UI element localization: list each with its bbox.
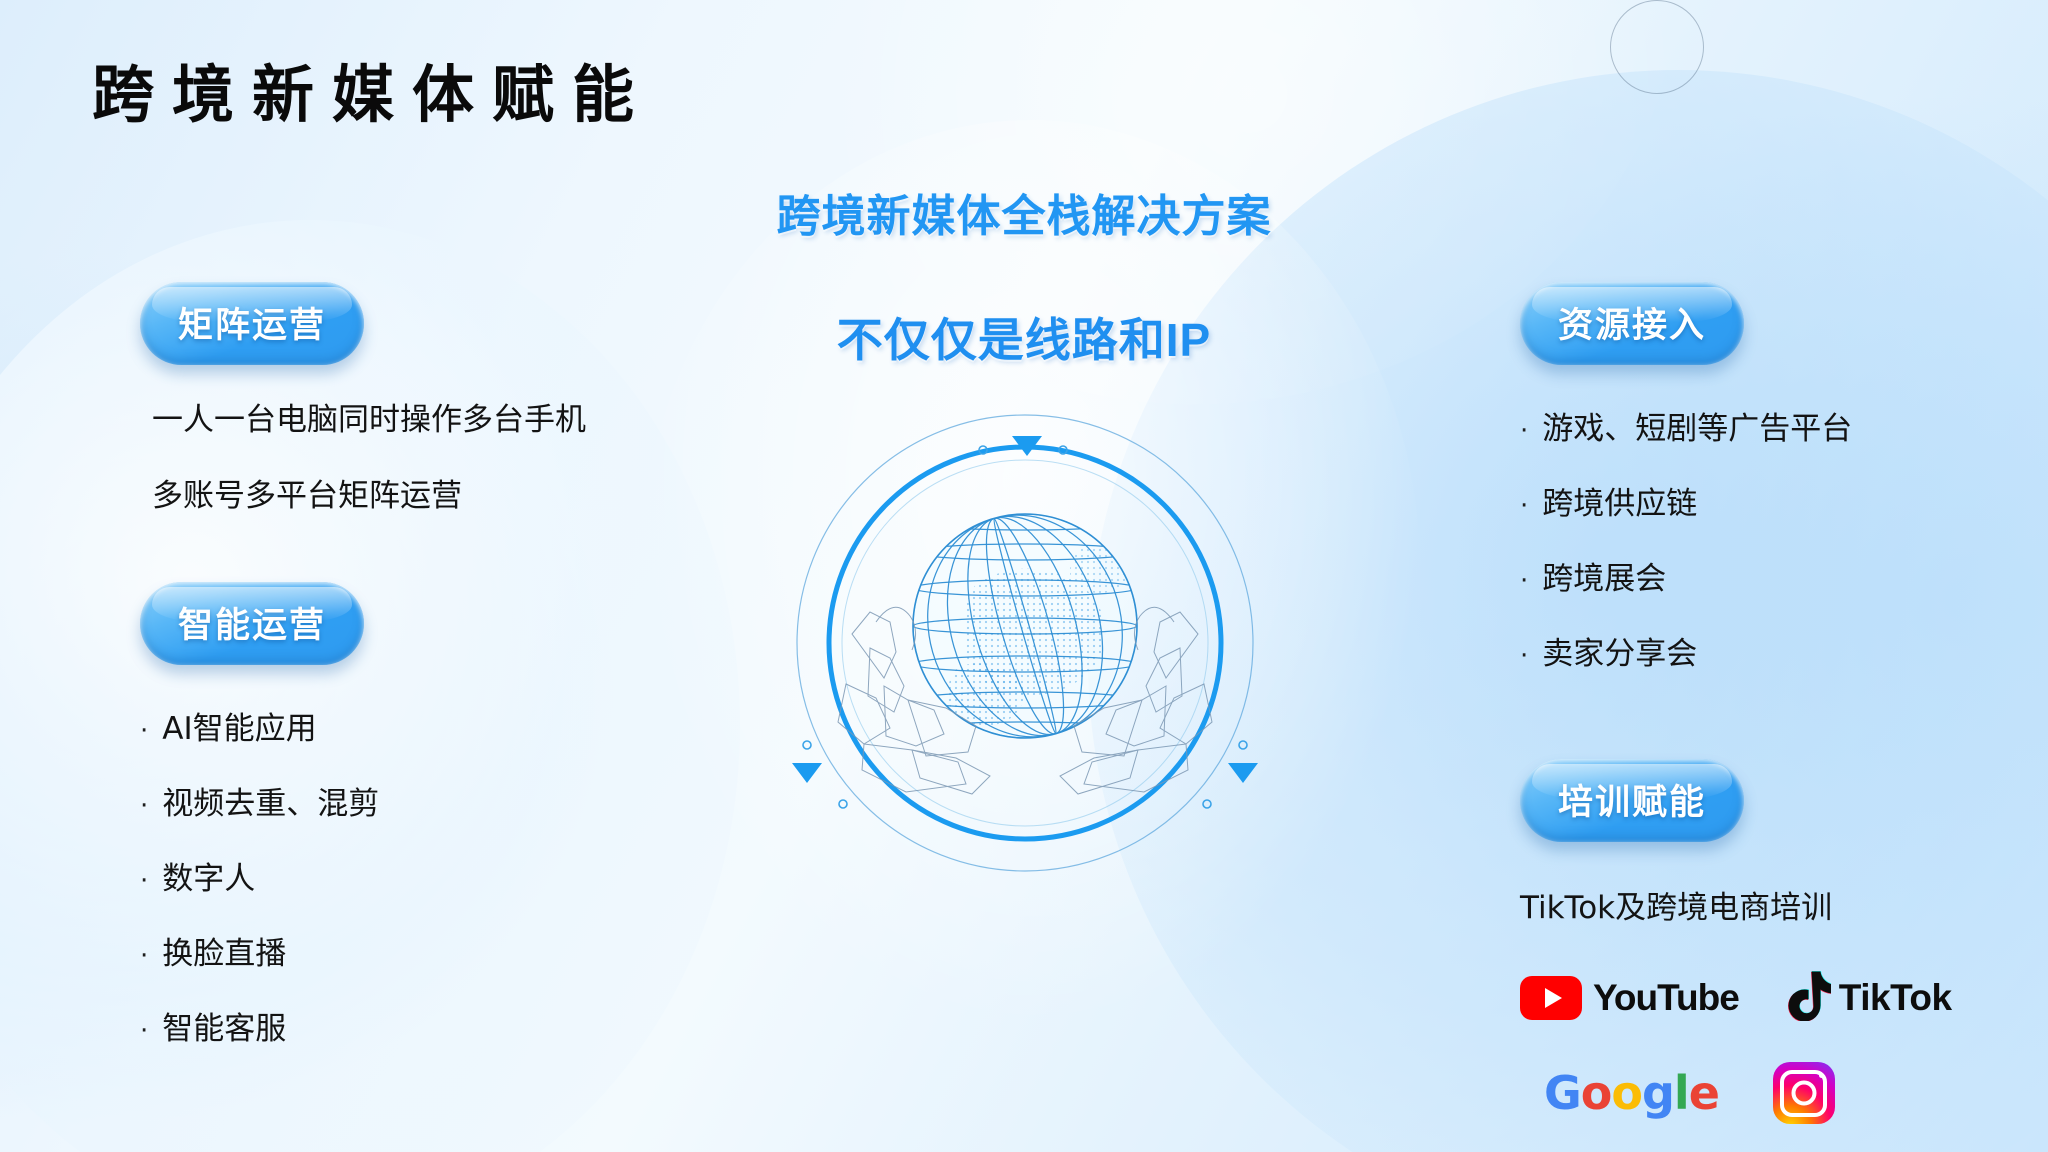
bullet-dot-icon: · xyxy=(1520,493,1528,519)
google-letter-o1: o xyxy=(1581,1070,1612,1116)
list-item-label: 跨境供应链 xyxy=(1542,478,1697,523)
google-letter-o2: o xyxy=(1611,1070,1642,1116)
bullet-dot-icon: · xyxy=(1520,568,1528,594)
list-item: · 换脸直播 xyxy=(140,928,700,973)
list-item-label: AI智能应用 xyxy=(162,703,316,748)
center-heading-secondary: 不仅仅是线路和IP xyxy=(624,304,1424,370)
bullet-dot-icon: · xyxy=(140,718,148,744)
resource-access-list: · 游戏、短剧等广告平台 · 跨境供应链 · 跨境展会 · 卖家分享会 xyxy=(1520,403,1990,673)
left-column: 矩阵运营 一人一台电脑同时操作多台手机 多账号多平台矩阵运营 智能运营 · AI… xyxy=(140,282,700,1078)
training-subtitle: TikTok及跨境电商培训 xyxy=(1520,882,1990,927)
list-item-label: 换脸直播 xyxy=(162,928,286,973)
list-item-label: 智能客服 xyxy=(162,1003,286,1048)
decorative-ring-icon xyxy=(1610,0,1704,94)
logo-row-primary: YouTube TikTok xyxy=(1520,969,1990,1026)
youtube-logo: YouTube xyxy=(1520,976,1739,1020)
pill-training-empowerment[interactable]: 培训赋能 xyxy=(1520,759,1744,842)
center-headings: 跨境新媒体全栈解决方案 不仅仅是线路和IP xyxy=(624,180,1424,370)
list-item-label: 卖家分享会 xyxy=(1542,628,1697,673)
pill-resource-access[interactable]: 资源接入 xyxy=(1520,282,1744,365)
google-letter-e: e xyxy=(1689,1070,1719,1116)
slide-canvas: 跨境新媒体赋能 跨境新媒体全栈解决方案 不仅仅是线路和IP xyxy=(0,0,2048,1152)
bullet-dot-icon: · xyxy=(140,793,148,819)
smart-operations-list: · AI智能应用 · 视频去重、混剪 · 数字人 · 换脸直播 · 智能客服 xyxy=(140,703,700,1048)
bullet-dot-icon: · xyxy=(140,1018,148,1044)
list-item-label: 游戏、短剧等广告平台 xyxy=(1542,403,1852,448)
google-letter-g1: G xyxy=(1544,1070,1581,1116)
list-item: · 视频去重、混剪 xyxy=(140,778,700,823)
tiktok-logo: TikTok xyxy=(1785,969,1952,1026)
list-item: · 数字人 xyxy=(140,853,700,898)
logo-row-secondary: Google xyxy=(1520,1062,1990,1124)
pill-smart-operations[interactable]: 智能运营 xyxy=(140,582,364,665)
page-title: 跨境新媒体赋能 xyxy=(92,44,652,134)
wireframe-globe-icon xyxy=(780,398,1270,888)
list-item: · 游戏、短剧等广告平台 xyxy=(1520,403,1990,448)
google-logo: Google xyxy=(1544,1070,1719,1116)
list-item-label: 数字人 xyxy=(162,853,255,898)
list-item-label: 视频去重、混剪 xyxy=(162,778,379,823)
center-heading-primary: 跨境新媒体全栈解决方案 xyxy=(624,180,1424,244)
right-column: 资源接入 · 游戏、短剧等广告平台 · 跨境供应链 · 跨境展会 · 卖家分享会… xyxy=(1520,282,1990,1124)
google-letter-l: l xyxy=(1674,1070,1689,1116)
bullet-dot-icon: · xyxy=(140,943,148,969)
pill-matrix-operations[interactable]: 矩阵运营 xyxy=(140,282,364,365)
list-item: · 卖家分享会 xyxy=(1520,628,1990,673)
list-item: · 跨境供应链 xyxy=(1520,478,1990,523)
matrix-line-2: 多账号多平台矩阵运营 xyxy=(152,477,700,517)
bullet-dot-icon: · xyxy=(1520,418,1528,444)
list-item: · 跨境展会 xyxy=(1520,553,1990,598)
list-item: · 智能客服 xyxy=(140,1003,700,1048)
bullet-dot-icon: · xyxy=(1520,643,1528,669)
tiktok-wordmark: TikTok xyxy=(1839,977,1952,1019)
list-item: · AI智能应用 xyxy=(140,703,700,748)
matrix-line-1: 一人一台电脑同时操作多台手机 xyxy=(152,401,700,441)
google-letter-g2: g xyxy=(1642,1070,1674,1116)
bullet-dot-icon: · xyxy=(140,868,148,894)
instagram-logo xyxy=(1773,1062,1835,1124)
list-item-label: 跨境展会 xyxy=(1542,553,1666,598)
tiktok-note-icon xyxy=(1785,969,1831,1026)
youtube-wordmark: YouTube xyxy=(1593,977,1739,1019)
matrix-operations-lines: 一人一台电脑同时操作多台手机 多账号多平台矩阵运营 xyxy=(140,401,700,516)
youtube-play-icon xyxy=(1520,976,1582,1020)
instagram-camera-icon xyxy=(1780,1070,1827,1117)
